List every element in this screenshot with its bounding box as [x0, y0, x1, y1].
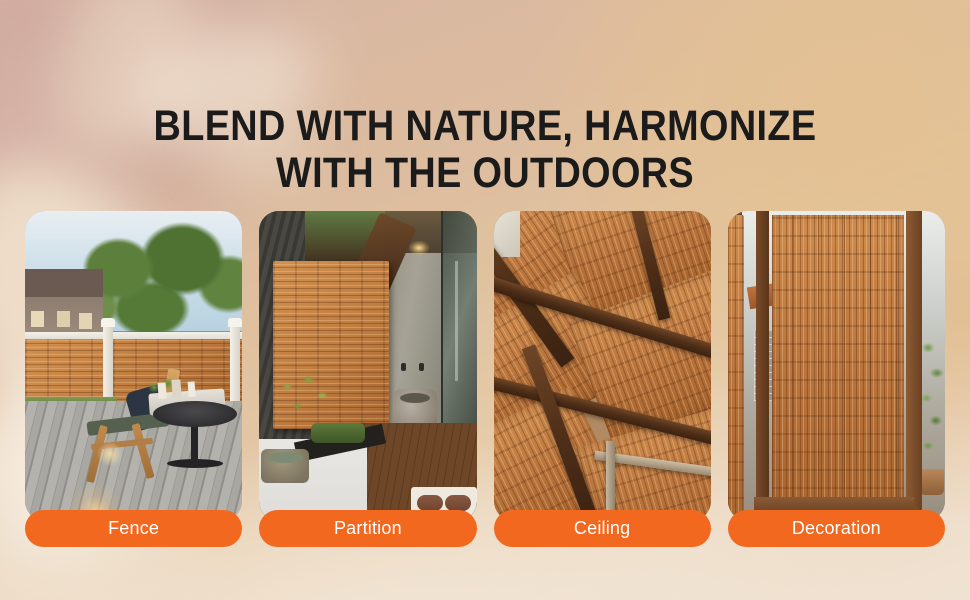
- reed-texture-decoration-side: [728, 215, 744, 517]
- label-pill-decoration[interactable]: Decoration: [728, 510, 945, 547]
- scene-card-partition[interactable]: [259, 211, 476, 521]
- promo-banner: BLEND WITH NATURE, HARMONIZE WITH THE OU…: [0, 0, 970, 600]
- photo-decoration-balcony: [728, 211, 945, 521]
- scene-card-decoration[interactable]: [728, 211, 945, 521]
- page-title: BLEND WITH NATURE, HARMONIZE WITH THE OU…: [58, 103, 912, 197]
- photo-fence-deck: [25, 211, 242, 521]
- label-pill-partition[interactable]: Partition: [259, 510, 476, 547]
- scene-card-row: [25, 211, 945, 521]
- reed-texture-decoration: [772, 215, 904, 507]
- photo-partition-courtyard: [259, 211, 476, 521]
- label-pill-ceiling[interactable]: Ceiling: [494, 510, 711, 547]
- photo-ceiling-pergola: [494, 211, 711, 521]
- side-table: [153, 401, 237, 481]
- scene-card-fence[interactable]: [25, 211, 242, 521]
- scene-card-ceiling[interactable]: [494, 211, 711, 521]
- scene-label-row: Fence Partition Ceiling Decoration: [25, 510, 945, 550]
- label-pill-fence[interactable]: Fence: [25, 510, 242, 547]
